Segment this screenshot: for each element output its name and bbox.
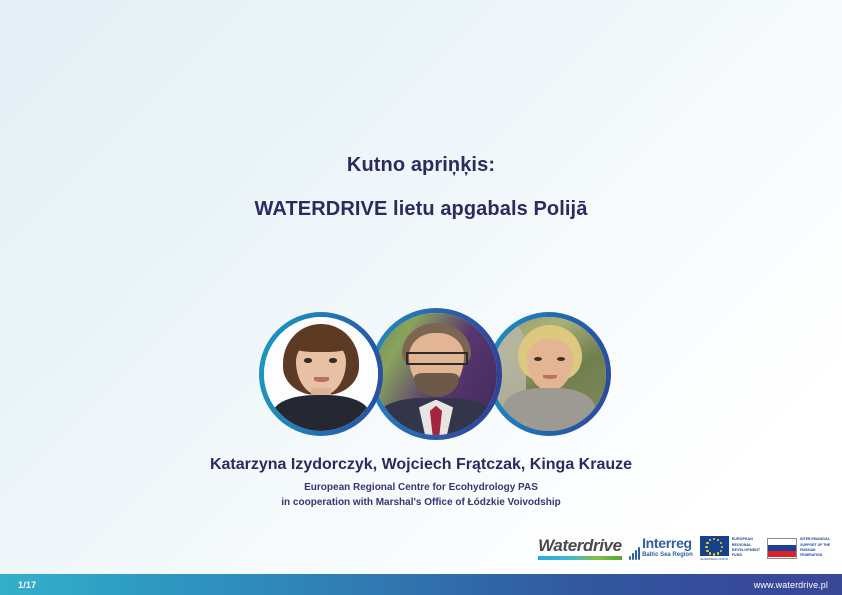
title-line-1: Kutno apriņķis: [0,152,842,179]
eye-right [329,358,337,363]
avatar-image-1 [264,317,378,431]
author-block: Katarzyna Izydorczyk, Wojciech Frątczak,… [0,456,842,510]
beard-shape [414,373,459,397]
eu-logo: EUROPEAN UNION EUROPEAN REGIONAL DEVELOP… [700,536,760,561]
portrait-photo-1 [264,317,378,431]
affiliation-line-1: European Regional Centre for Ecohydrolog… [0,481,842,496]
waterdrive-logo: Waterdrive [538,537,622,560]
presentation-slide: Kutno apriņķis: WATERDRIVE lietu apgabal… [0,0,842,595]
interreg-name: Interreg [642,536,693,550]
interreg-bars-icon [629,547,640,560]
russia-support-caption: INTER-FINANCIAL SUPPORT OF THE RUSSIAN F… [800,537,830,558]
torso-shape [273,395,369,431]
russian-flag-icon [767,538,797,559]
russia-caption-line-4: FEDERATION [800,553,830,558]
eu-flag-caption: EUROPEAN UNION [701,557,728,561]
footer-bar: 1/17 www.waterdrive.pl [0,574,842,595]
interreg-logo: Interreg Baltic Sea Region [629,536,693,559]
page-number: 1/17 [18,580,36,590]
author-names: Katarzyna Izydorczyk, Wojciech Frątczak,… [0,456,842,474]
portrait-photo-2 [375,313,497,435]
eu-fund-caption: EUROPEAN REGIONAL DEVELOPMENT FUND [732,537,760,559]
eye-left [534,357,542,361]
eye-right [557,357,565,361]
eu-flag-icon [700,536,729,556]
logo-strip: Waterdrive Interreg Baltic Sea Region [538,531,830,565]
affiliation-block: European Regional Centre for Ecohydrolog… [0,481,842,510]
website-url[interactable]: www.waterdrive.pl [754,580,828,590]
portrait-photo-3 [492,317,606,431]
mouth-shape [314,377,329,382]
waterdrive-gradient-bar [538,556,622,560]
avatar-kinga-krauze [487,312,611,436]
eu-caption-line-4: FUND [732,553,760,558]
avatar-image-3 [492,317,606,431]
avatar-katarzyna-izydorczyk [259,312,383,436]
russia-logo: INTER-FINANCIAL SUPPORT OF THE RUSSIAN F… [767,537,830,558]
avatar-image-2 [375,313,497,435]
avatar-wojciech-fratczak [370,308,502,440]
page-title: Kutno apriņķis: WATERDRIVE lietu apgabal… [0,152,842,223]
interreg-subtitle: Baltic Sea Region [642,552,693,559]
scarf-shape [503,388,594,431]
portrait-group [0,308,842,440]
affiliation-line-2: in cooperation with Marshal's Office of … [0,496,842,511]
interreg-logo-text: Interreg Baltic Sea Region [642,536,693,559]
glasses-shape [406,352,468,365]
title-line-2: WATERDRIVE lietu apgabals Polijā [0,196,842,223]
eye-left [304,358,312,363]
russia-caption-line-1: INTER-FINANCIAL [800,537,830,542]
waterdrive-logo-text: Waterdrive [538,537,622,554]
face-shape [527,339,573,391]
